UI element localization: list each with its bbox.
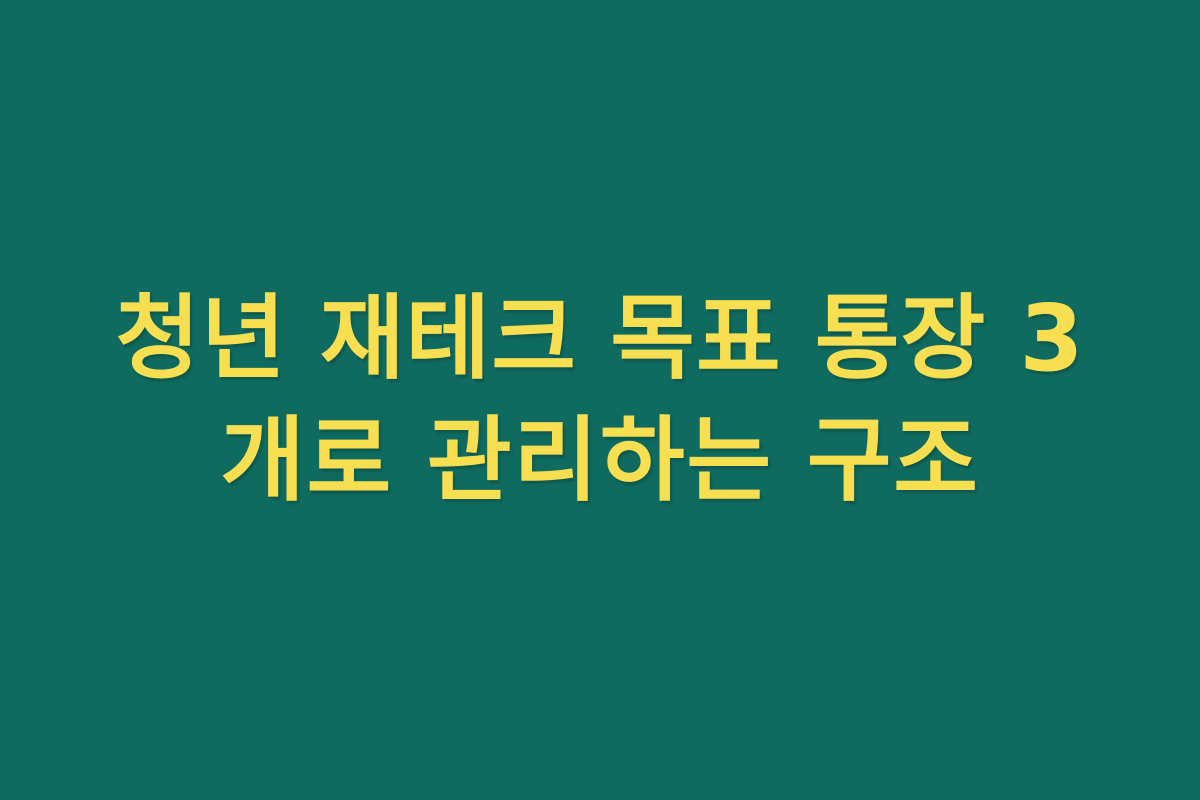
headline-line-1: 청년 재테크 목표 통장 3 [70,278,1130,400]
headline-block: 청년 재테크 목표 통장 3 개로 관리하는 구조 [70,278,1130,523]
headline-line-2: 개로 관리하는 구조 [70,400,1130,522]
poster-canvas: 청년 재테크 목표 통장 3 개로 관리하는 구조 [0,0,1200,800]
